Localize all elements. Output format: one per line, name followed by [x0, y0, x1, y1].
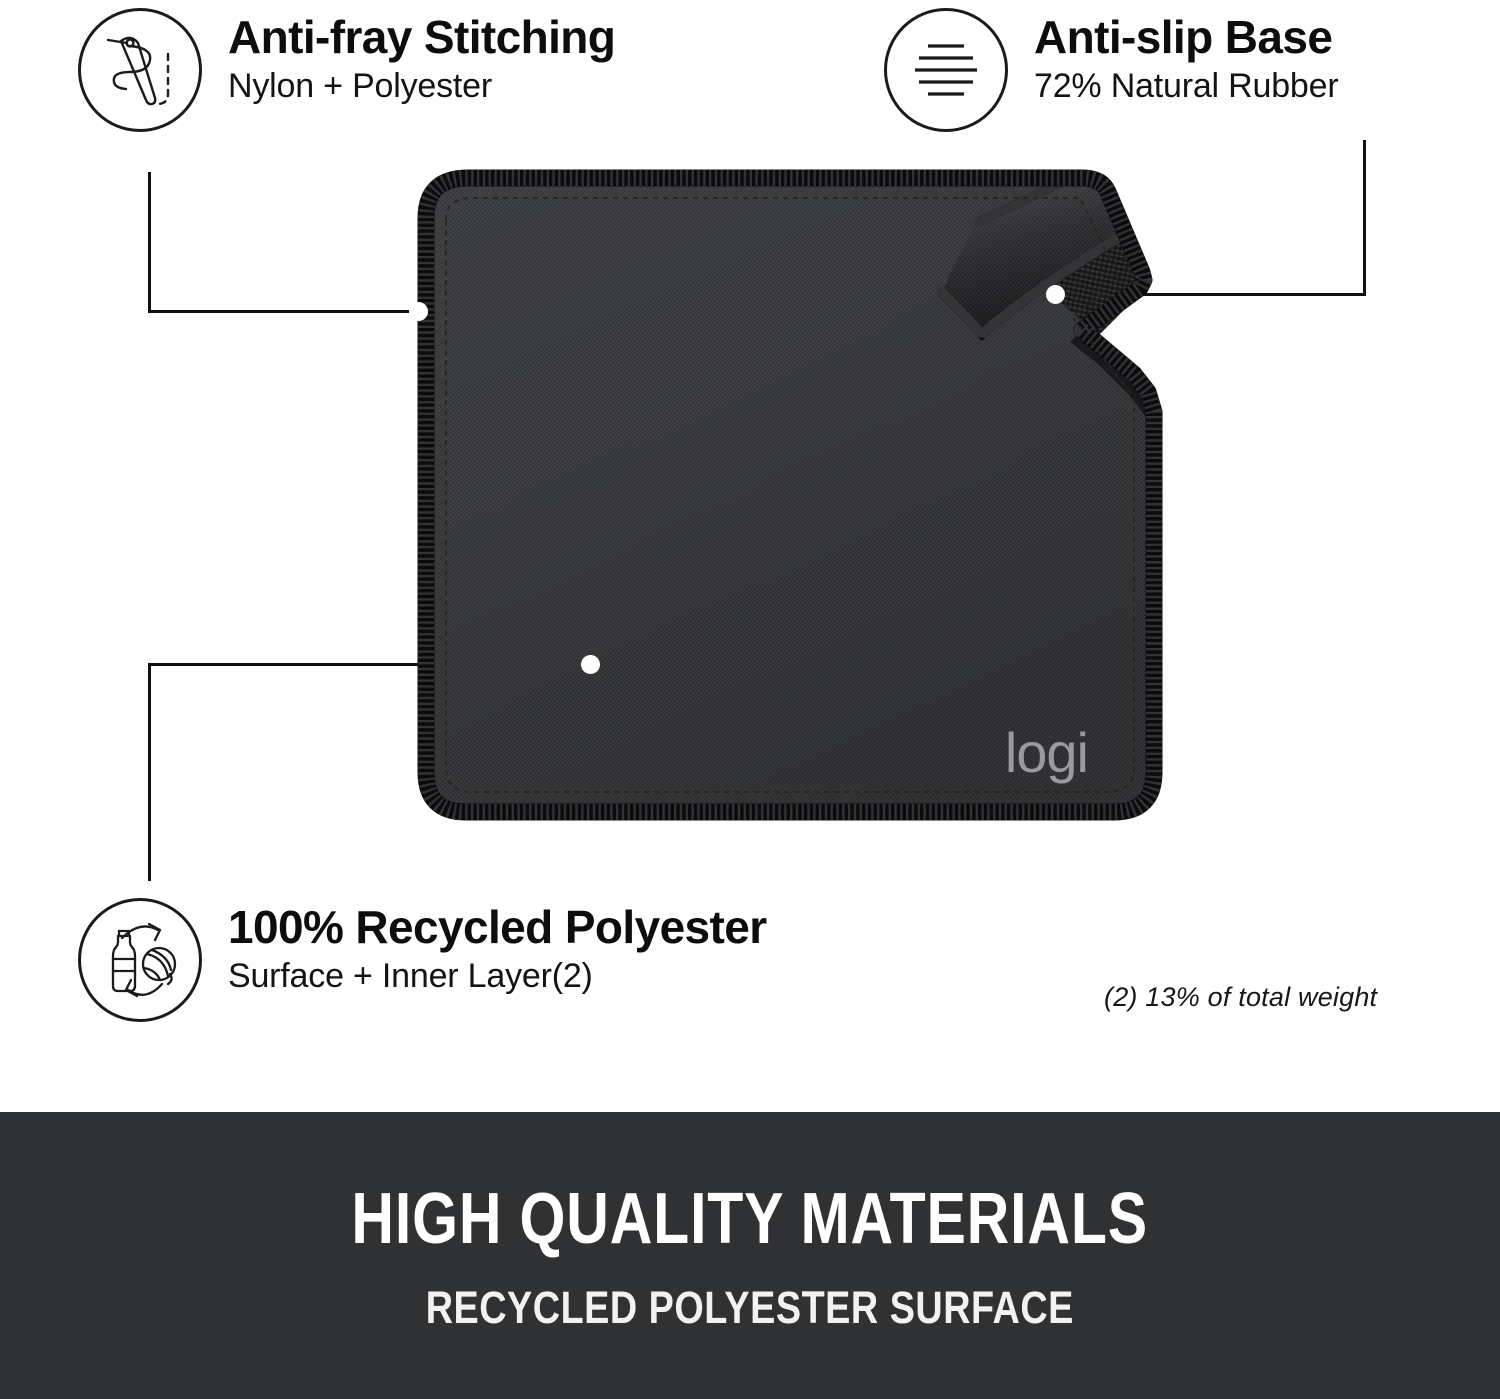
- callout-antislip-title: Anti-slip Base: [1034, 14, 1338, 62]
- callout-antislip-text: Anti-slip Base 72% Natural Rubber: [1034, 8, 1338, 107]
- leader-line-stitching-vertical: [148, 172, 151, 313]
- leader-line-recycled-vertical: [148, 663, 151, 881]
- callout-stitching: Anti-fray Stitching Nylon + Polyester: [78, 8, 615, 132]
- banner-subtitle: RECYCLED POLYESTER SURFACE: [426, 1282, 1074, 1334]
- callout-dot-recycled: [581, 655, 600, 674]
- callout-antislip-subtitle: 72% Natural Rubber: [1034, 66, 1338, 107]
- callout-recycled-subtitle: Surface + Inner Layer(2): [228, 956, 767, 997]
- leader-line-antislip-vertical: [1363, 140, 1366, 296]
- leader-line-stitching-horizontal: [148, 310, 420, 313]
- callout-dot-stitching: [409, 302, 428, 321]
- logi-logo: logi: [1005, 721, 1088, 784]
- bottom-banner: HIGH QUALITY MATERIALS RECYCLED POLYESTE…: [0, 1112, 1500, 1399]
- callout-stitching-text: Anti-fray Stitching Nylon + Polyester: [228, 8, 615, 107]
- callout-recycled-text: 100% Recycled Polyester Surface + Inner …: [228, 898, 767, 997]
- banner-title: HIGH QUALITY MATERIALS: [352, 1178, 1148, 1260]
- callout-stitching-title: Anti-fray Stitching: [228, 14, 615, 62]
- callout-dot-antislip: [1046, 285, 1065, 304]
- infographic-page: logi Anti: [0, 0, 1500, 1399]
- needle-thread-icon: [78, 8, 202, 132]
- callout-recycled-title: 100% Recycled Polyester: [228, 904, 767, 952]
- recycle-bottle-yarn-icon: [78, 898, 202, 1022]
- callout-recycled: 100% Recycled Polyester Surface + Inner …: [78, 898, 767, 1022]
- mousepad-product-image: logi: [382, 160, 1182, 840]
- footnote-weight: (2) 13% of total weight: [1104, 982, 1377, 1013]
- horizontal-lines-icon: [884, 8, 1008, 132]
- callout-stitching-subtitle: Nylon + Polyester: [228, 66, 615, 107]
- callout-antislip: Anti-slip Base 72% Natural Rubber: [884, 8, 1338, 132]
